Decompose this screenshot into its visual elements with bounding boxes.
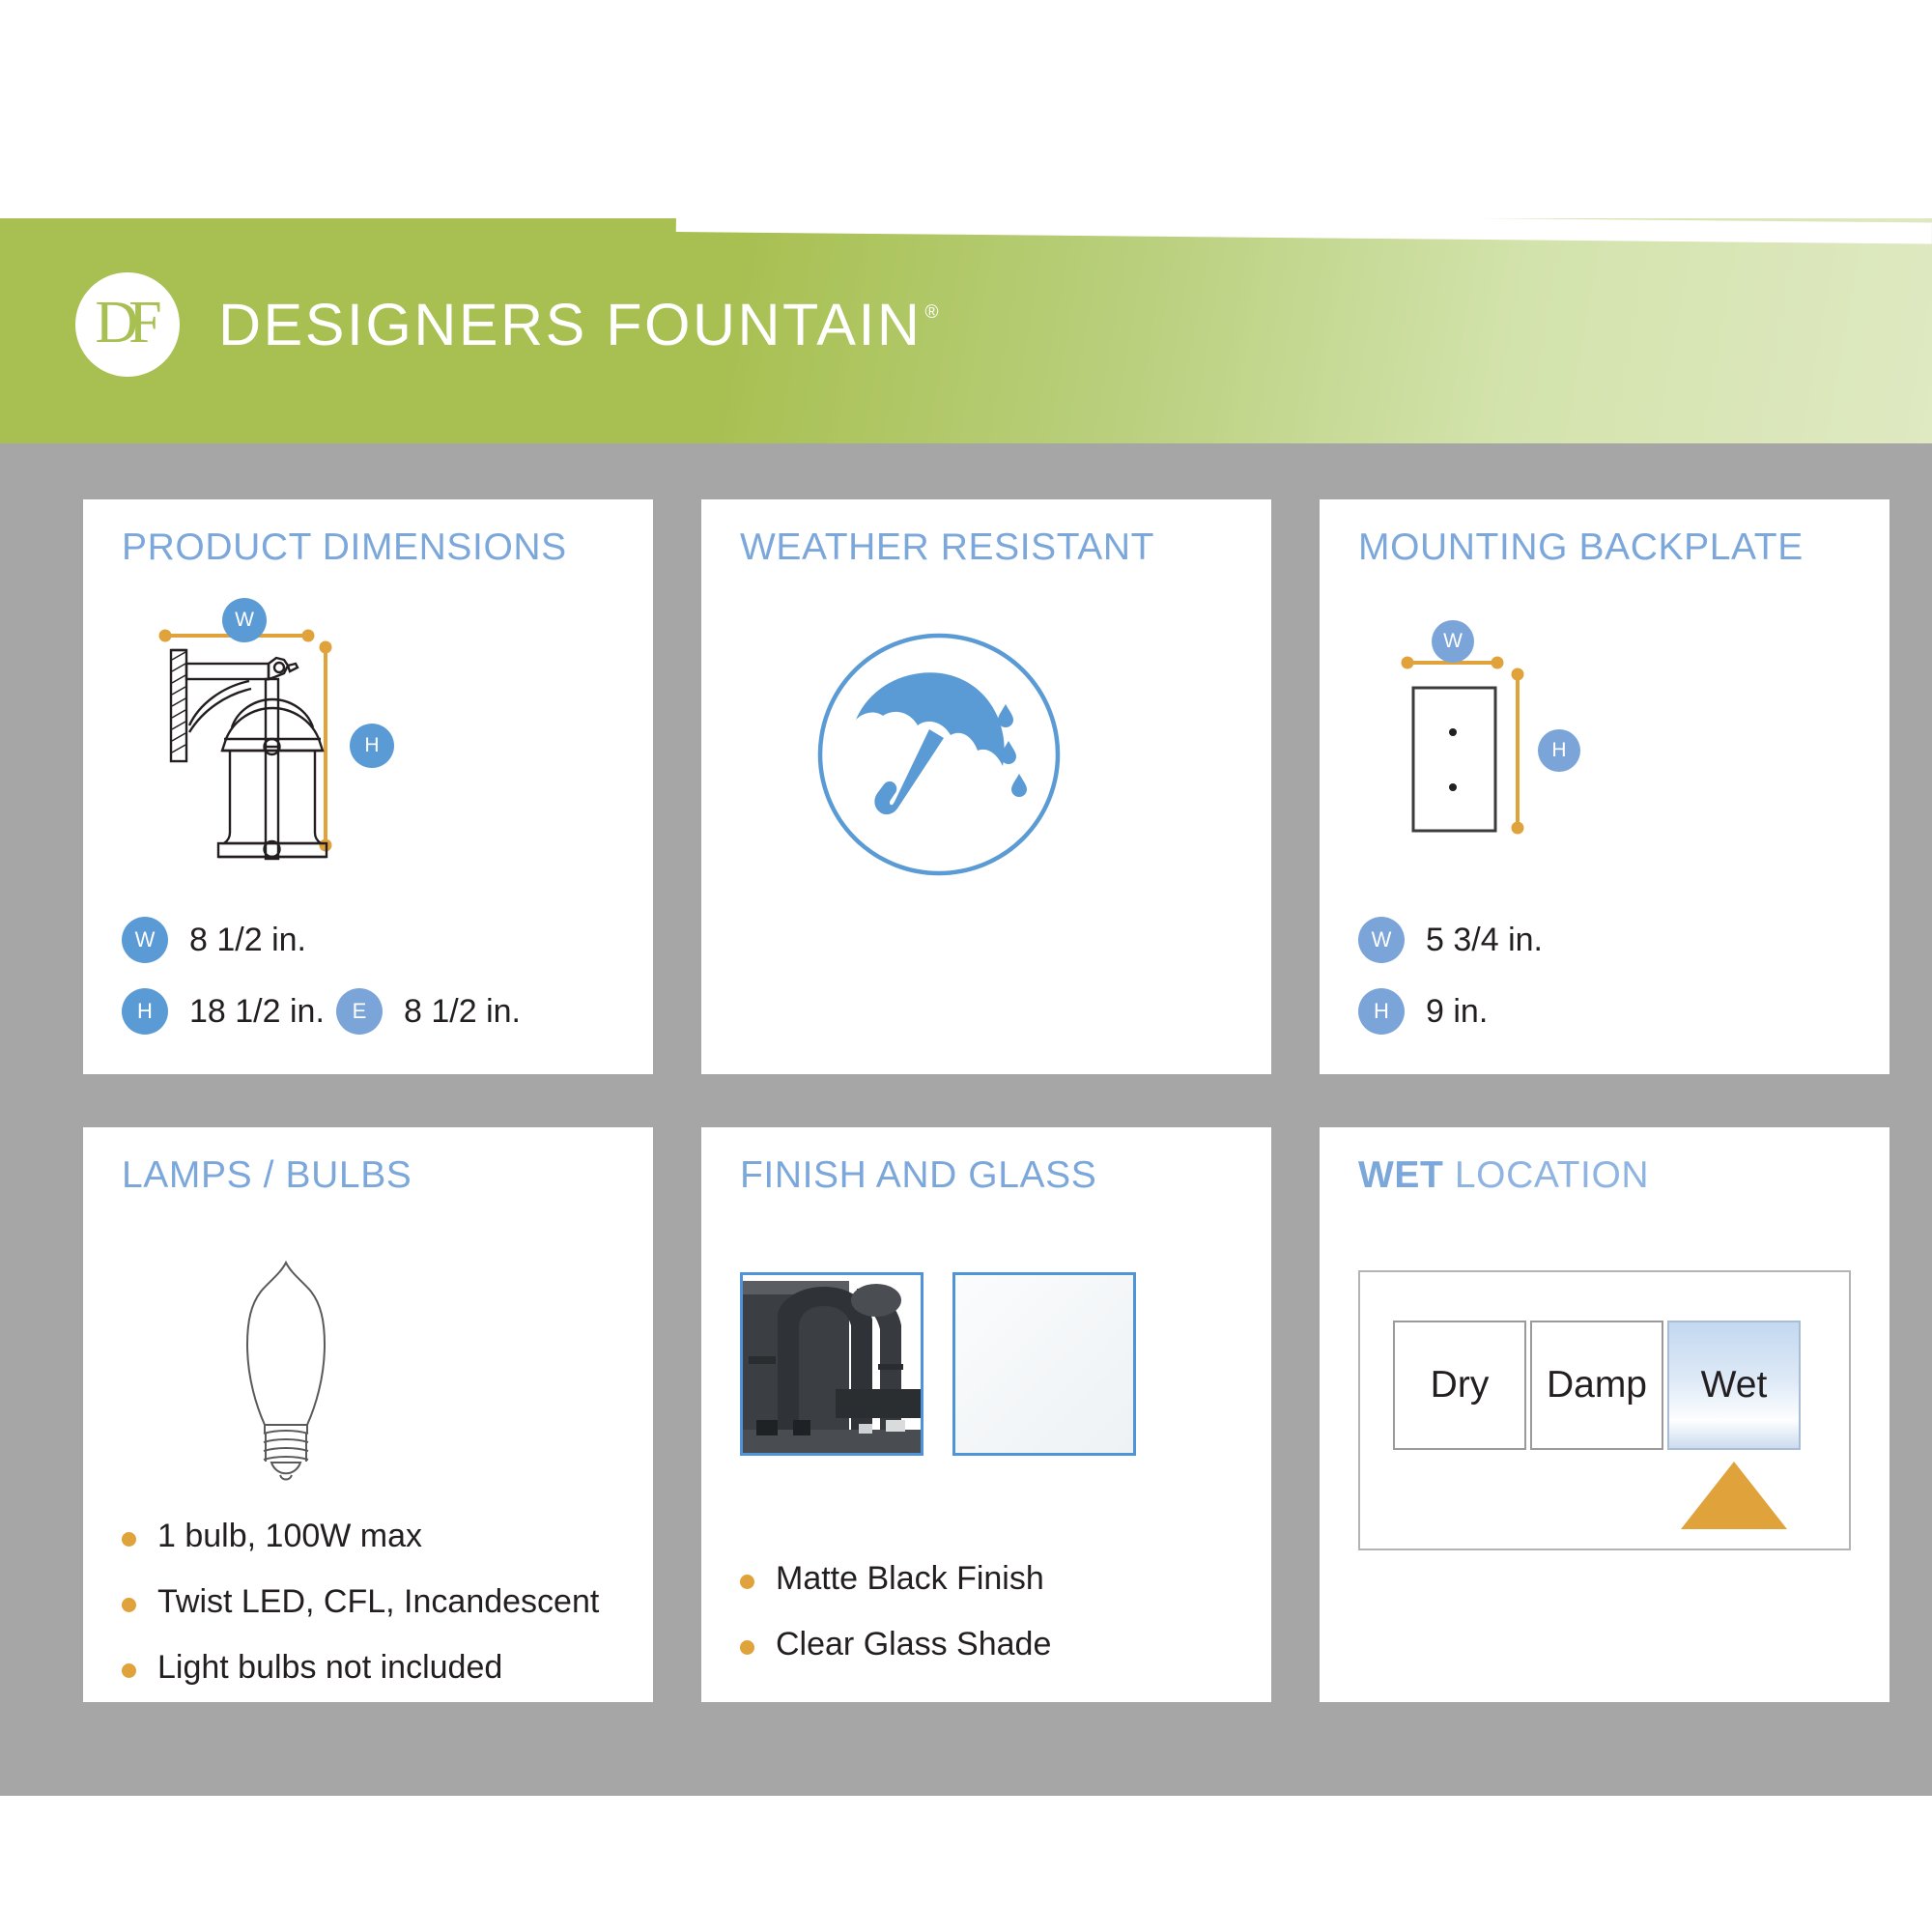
product-dimension-diagram: W H — [129, 604, 516, 894]
card-finish-and-glass: FINISH AND GLASS — [701, 1127, 1271, 1702]
card-title-location-light: LOCATION — [1455, 1154, 1649, 1196]
badge-height-diagram: H — [350, 724, 394, 768]
dimension-value-height: 18 1/2 in. — [189, 993, 325, 1031]
card-wet-location: WET LOCATION Dry Damp Wet — [1320, 1127, 1889, 1702]
location-option-dry: Dry — [1393, 1321, 1526, 1450]
badge-extension: E — [336, 988, 383, 1035]
bullet-label: 1 bulb, 100W max — [157, 1518, 422, 1555]
logo-monogram-df: DF — [95, 293, 159, 353]
badge-width: W — [122, 917, 168, 963]
location-option-damp: Damp — [1530, 1321, 1663, 1450]
card-mounting-backplate: MOUNTING BACKPLATE W H W 5 3/4 in. — [1320, 499, 1889, 1074]
list-item: Clear Glass Shade — [740, 1626, 1051, 1663]
dimension-row-height: H 9 in. — [1358, 988, 1488, 1035]
bullet-dot-icon — [740, 1575, 754, 1589]
card-title-product-dimensions: PRODUCT DIMENSIONS — [122, 526, 567, 569]
badge-width-diagram: W — [1432, 620, 1474, 663]
card-lamps-bulbs: LAMPS / BULBS — [83, 1127, 653, 1702]
location-option-wet: Wet — [1667, 1321, 1801, 1450]
card-title-weather-resistant: WEATHER RESISTANT — [740, 526, 1154, 569]
dimension-row-width: W 5 3/4 in. — [1358, 917, 1543, 963]
card-weather-resistant: WEATHER RESISTANT — [701, 499, 1271, 1074]
card-title-lamps-bulbs: LAMPS / BULBS — [122, 1154, 412, 1197]
header-slope-decoration — [676, 218, 1932, 243]
dimension-row-extension: E 8 1/2 in. — [336, 988, 521, 1035]
dimension-value-extension: 8 1/2 in. — [404, 993, 521, 1031]
card-product-dimensions: PRODUCT DIMENSIONS — [83, 499, 653, 1074]
umbrella-with-raindrops-icon — [813, 629, 1065, 880]
dimension-value-width: 8 1/2 in. — [189, 922, 306, 959]
orange-triangle-up-icon — [1681, 1462, 1787, 1529]
bullet-dot-icon — [122, 1598, 136, 1612]
bullet-label: Light bulbs not included — [157, 1649, 502, 1687]
dimension-value-width: 5 3/4 in. — [1426, 922, 1543, 959]
registered-trademark-symbol: ® — [924, 302, 941, 323]
list-item: Twist LED, CFL, Incandescent — [122, 1583, 599, 1621]
spec-sheet-page: DF DESIGNERS FOUNTAIN® PRODUCT DIMENSION… — [0, 0, 1932, 1932]
brand-wordmark: DESIGNERS FOUNTAIN® — [218, 291, 938, 358]
finish-glass-bullet-list: Matte Black Finish Clear Glass Shade — [740, 1560, 1051, 1691]
badge-width-diagram: W — [222, 598, 267, 642]
bullet-label: Clear Glass Shade — [776, 1626, 1051, 1663]
dimension-row-width: W 8 1/2 in. — [122, 917, 306, 963]
list-item: 1 bulb, 100W max — [122, 1518, 599, 1555]
bullet-dot-icon — [740, 1640, 754, 1655]
badge-height: H — [122, 988, 168, 1035]
dimension-row-height: H 18 1/2 in. — [122, 988, 325, 1035]
finish-swatch-matte-black — [740, 1272, 923, 1456]
location-rating-diagram: Dry Damp Wet — [1358, 1270, 1851, 1550]
dimension-value-height: 9 in. — [1426, 993, 1488, 1031]
brand-wordmark-text: DESIGNERS FOUNTAIN — [218, 292, 922, 357]
glass-swatch-clear — [952, 1272, 1136, 1456]
card-title-wet-location: WET LOCATION — [1358, 1154, 1649, 1197]
list-item: Light bulbs not included — [122, 1649, 599, 1687]
bullet-dot-icon — [122, 1663, 136, 1678]
card-title-mounting-backplate: MOUNTING BACKPLATE — [1358, 526, 1804, 569]
bullet-label: Twist LED, CFL, Incandescent — [157, 1583, 599, 1621]
list-item: Matte Black Finish — [740, 1560, 1051, 1598]
card-title-finish-and-glass: FINISH AND GLASS — [740, 1154, 1096, 1197]
bullet-dot-icon — [122, 1532, 136, 1547]
brand-logo: DF DESIGNERS FOUNTAIN® — [75, 272, 938, 377]
card-title-wet-bold: WET — [1358, 1154, 1443, 1196]
badge-height: H — [1358, 988, 1405, 1035]
logo-oval-mark: DF — [75, 272, 180, 377]
badge-width: W — [1358, 917, 1405, 963]
edison-bulb-outline-icon — [199, 1253, 373, 1494]
badge-height-diagram: H — [1538, 729, 1580, 772]
lamps-bulbs-bullet-list: 1 bulb, 100W max Twist LED, CFL, Incande… — [122, 1518, 599, 1715]
bullet-label: Matte Black Finish — [776, 1560, 1044, 1598]
backplate-dimension-diagram: W H — [1366, 604, 1752, 894]
